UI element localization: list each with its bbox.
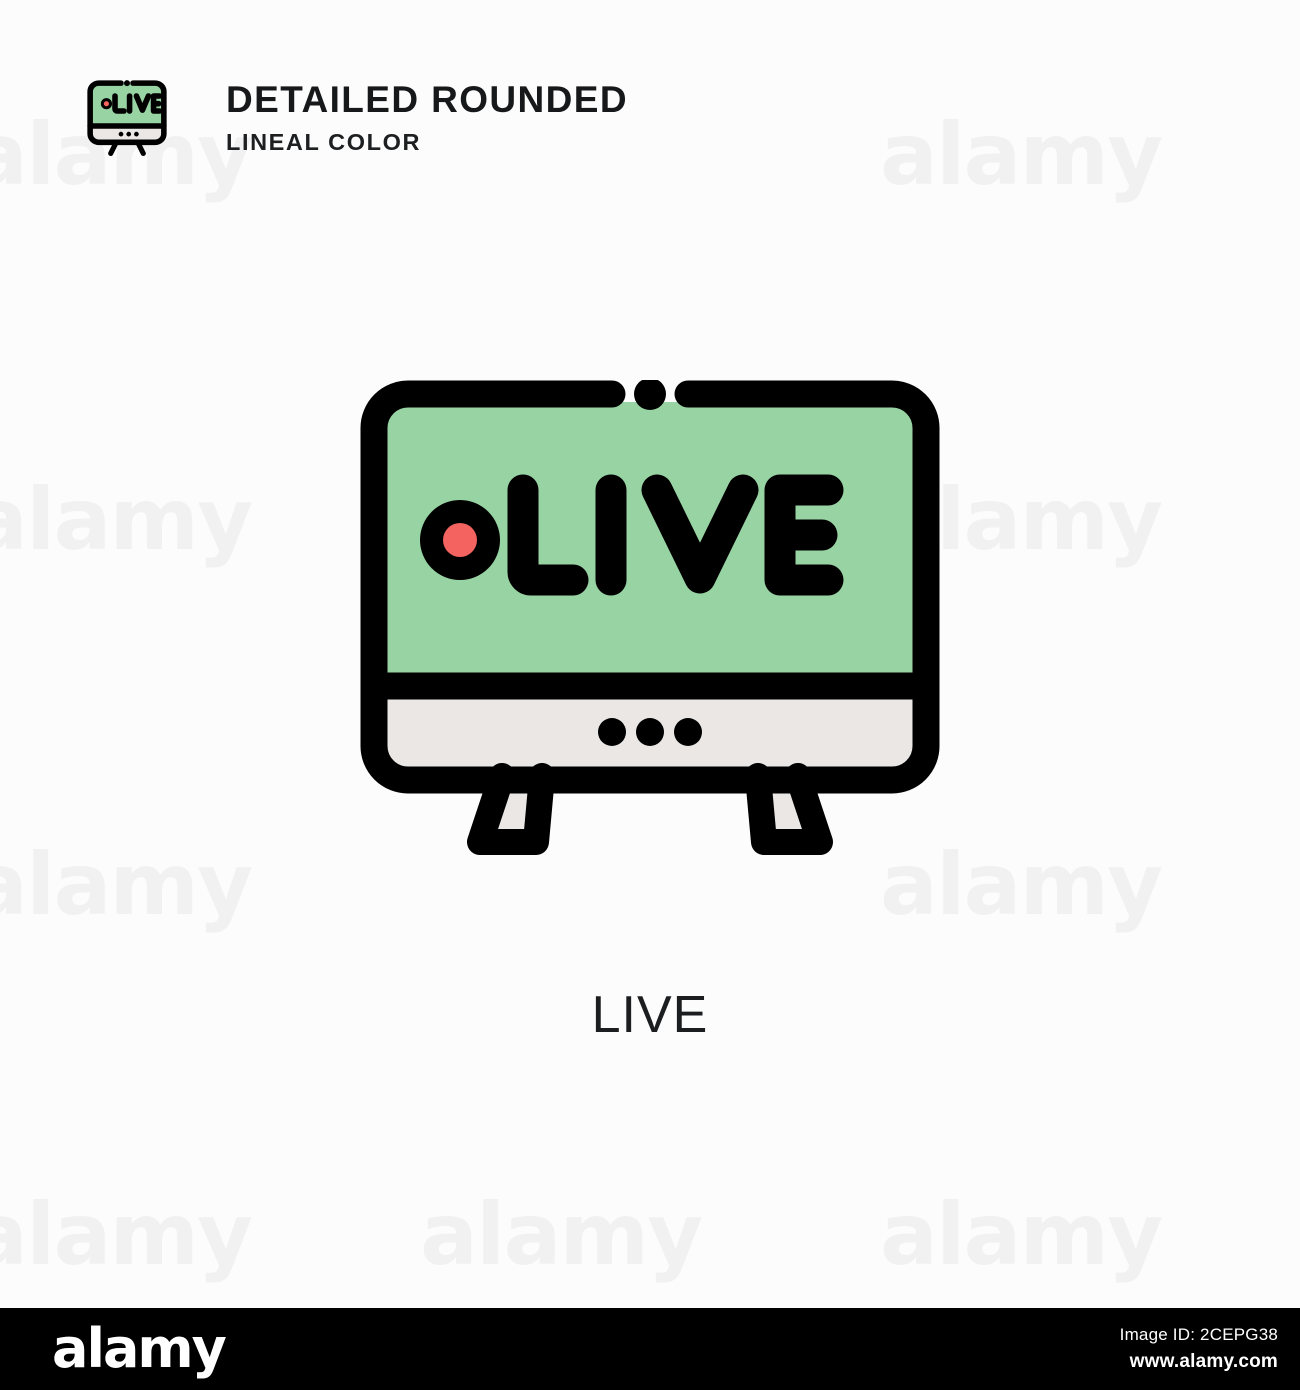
- watermark-tile: alamy: [420, 1185, 701, 1285]
- watermark-tile: alamy: [880, 105, 1161, 205]
- watermark-tile: alamy: [880, 1185, 1161, 1285]
- hero-icon-area: [0, 380, 1300, 880]
- image-id-label: Image ID: 2CEPG38: [1120, 1323, 1278, 1348]
- alamy-url[interactable]: www.alamy.com: [1120, 1348, 1278, 1376]
- recording-dot: [443, 523, 477, 557]
- live-monitor-icon: [360, 380, 940, 880]
- webcam-dot: [124, 80, 130, 86]
- watermark-tile: alamy: [0, 1185, 251, 1285]
- alamy-logo: alamy: [52, 1322, 225, 1376]
- footer-bar: alamy Image ID: 2CEPG38 www.alamy.com: [0, 1308, 1300, 1390]
- icon-caption: LIVE: [0, 985, 1300, 1045]
- page-title: DETAILED ROUNDED: [226, 80, 628, 120]
- header-text-block: DETAILED ROUNDED LINEAL COLOR: [226, 72, 628, 156]
- base-dots: [598, 718, 702, 746]
- live-monitor-icon: [84, 78, 170, 156]
- footer-meta: Image ID: 2CEPG38 www.alamy.com: [1120, 1323, 1278, 1375]
- page-subtitle: LINEAL COLOR: [226, 129, 628, 156]
- header: DETAILED ROUNDED LINEAL COLOR: [84, 72, 628, 156]
